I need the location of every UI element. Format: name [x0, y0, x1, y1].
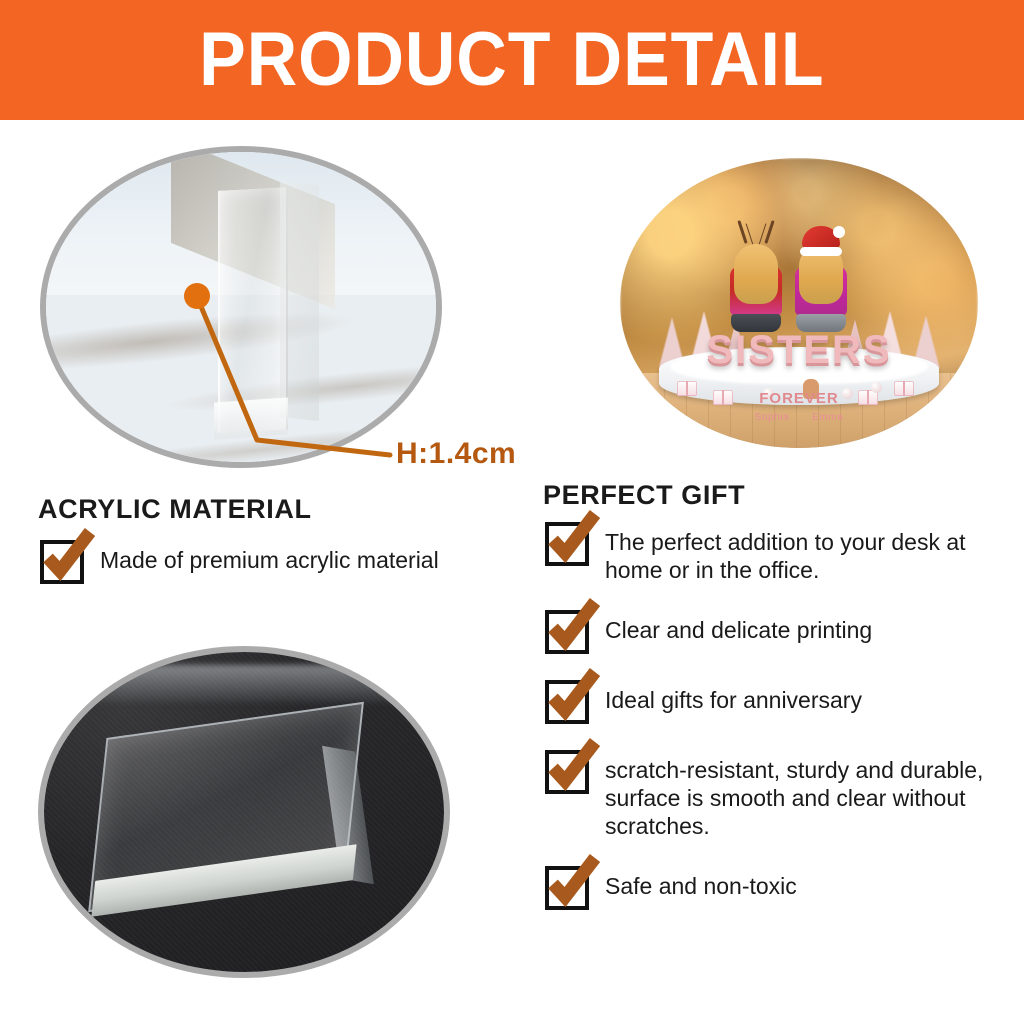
gnome-figure-left	[727, 236, 785, 332]
checkmark-icon	[545, 866, 589, 910]
gift-box-icon	[713, 390, 733, 405]
product-detail-page: PRODUCT DETAIL	[0, 0, 1024, 1024]
bauble-icon	[842, 388, 853, 399]
checkmark-icon	[545, 610, 589, 654]
antlers-icon	[733, 220, 779, 246]
artwork-name-1: Sophia	[755, 412, 789, 423]
header-banner: PRODUCT DETAIL	[0, 0, 1024, 120]
feature-item: Safe and non-toxic	[545, 866, 1015, 910]
feature-item: The perfect addition to your desk at hom…	[545, 522, 1015, 584]
feature-text: Clear and delicate printing	[605, 610, 872, 644]
feature-item: scratch-resistant, sturdy and durable, s…	[545, 750, 1015, 840]
feature-text: Safe and non-toxic	[605, 866, 797, 900]
wood-table-scene	[46, 152, 436, 462]
checkmark-icon	[545, 522, 589, 566]
gift-box-icon	[677, 381, 697, 396]
acrylic-slab-photo	[44, 652, 444, 972]
acrylic-edge-photo	[46, 152, 436, 462]
checkmark-icon	[545, 680, 589, 724]
hair	[734, 244, 778, 304]
feature-item: Made of premium acrylic material	[40, 540, 510, 584]
feature-text: Ideal gifts for anniversary	[605, 680, 862, 714]
feature-list-perfect-gift: The perfect addition to your desk at hom…	[545, 522, 1015, 936]
artwork-name-2: Emma	[812, 412, 843, 423]
checkmark-icon	[40, 540, 84, 584]
feature-text: scratch-resistant, sturdy and durable, s…	[605, 750, 1015, 840]
feature-list-acrylic-material: Made of premium acrylic material	[40, 540, 510, 610]
slate-surface	[44, 652, 444, 972]
acrylic-side-face	[280, 181, 319, 421]
artwork-names: Sophia Emma	[745, 412, 853, 423]
santa-hat-icon	[800, 226, 842, 256]
bauble-icon	[871, 382, 882, 393]
slate-highlight	[92, 665, 412, 703]
feature-text: Made of premium acrylic material	[100, 540, 439, 574]
product-scene: SISTERS FOREVER Sophia Emma	[620, 158, 978, 448]
section-heading-perfect-gift: PERFECT GIFT	[543, 480, 745, 511]
feature-item: Ideal gifts for anniversary	[545, 680, 1015, 724]
product-photo: SISTERS FOREVER Sophia Emma	[620, 158, 978, 448]
gnome-figure-right	[792, 236, 850, 332]
hat-brim	[800, 247, 842, 256]
section-heading-acrylic-material: ACRYLIC MATERIAL	[38, 494, 312, 525]
acrylic-front-face	[218, 187, 288, 432]
checkmark-icon	[545, 750, 589, 794]
feature-text: The perfect addition to your desk at hom…	[605, 522, 1015, 584]
gift-box-icon	[894, 381, 914, 396]
artwork-subline: FOREVER	[759, 390, 839, 407]
hat-pom	[833, 226, 845, 238]
page-title: PRODUCT DETAIL	[199, 22, 824, 98]
artwork-headline: SISTERS	[706, 328, 891, 373]
acrylic-base-edge	[214, 397, 288, 439]
feature-item: Clear and delicate printing	[545, 610, 1015, 654]
